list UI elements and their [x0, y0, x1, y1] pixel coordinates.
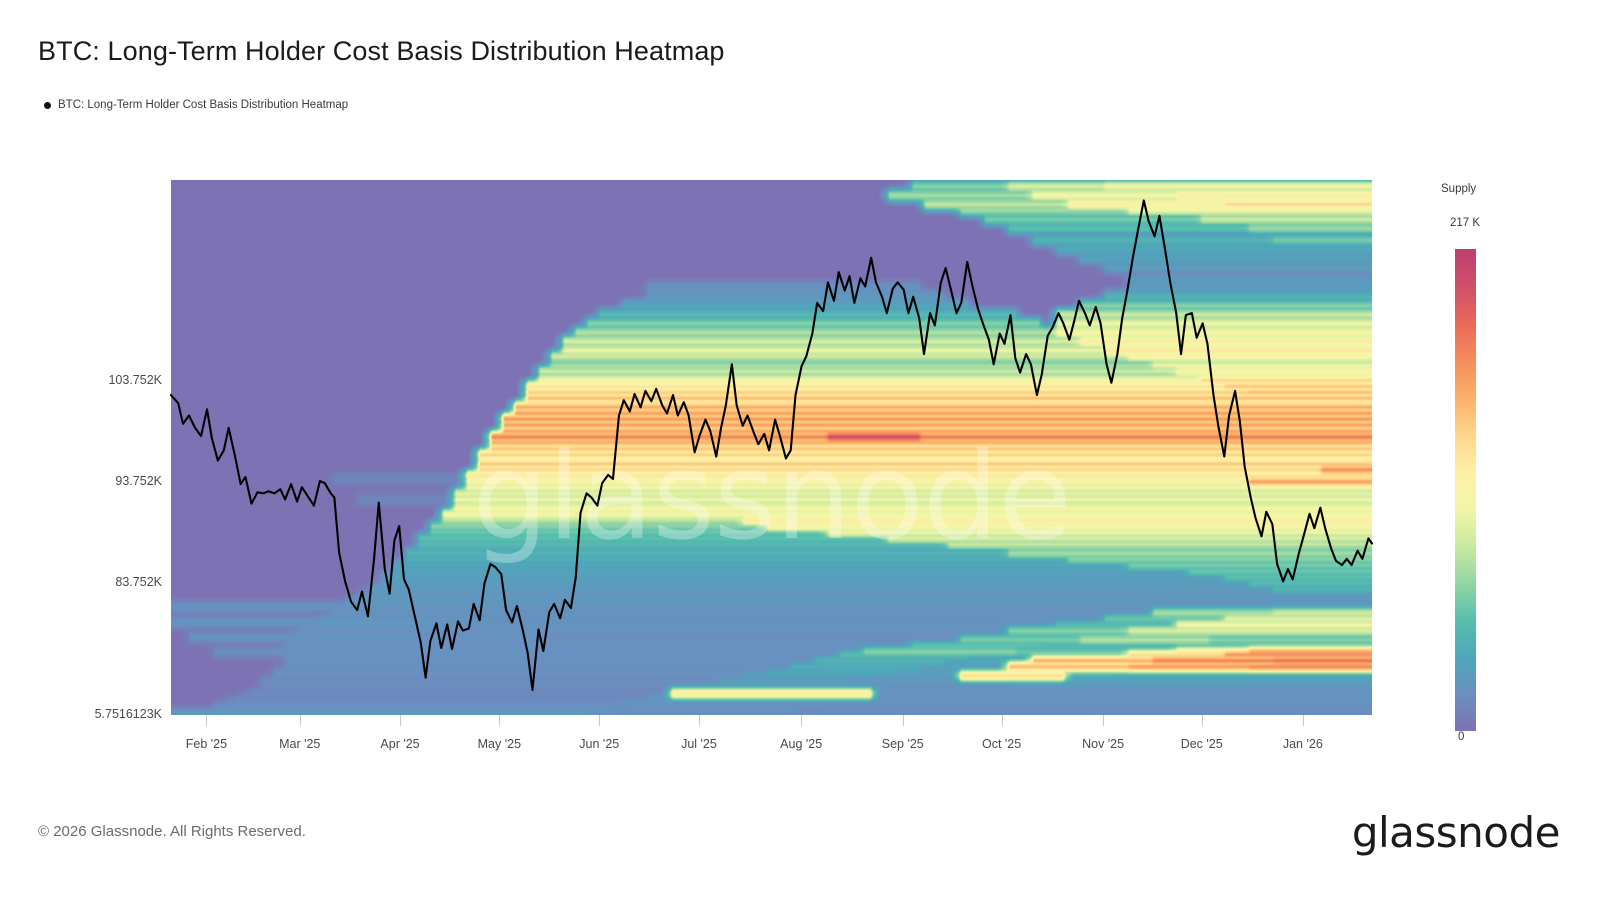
x-axis-tick-label: May '25 — [478, 737, 521, 751]
y-axis: 103.752K93.752K83.752K5.7516123K — [82, 180, 162, 715]
x-axis-tick-label: Sep '25 — [882, 737, 924, 751]
y-axis-tick-label: 5.7516123K — [95, 707, 162, 721]
x-axis-tick-mark — [300, 715, 301, 726]
price-line — [171, 200, 1372, 689]
x-axis-tick-mark — [801, 715, 802, 726]
colorbar-title: Supply — [1441, 183, 1476, 195]
x-axis-tick-mark — [903, 715, 904, 726]
x-axis-tick-label: Mar '25 — [279, 737, 320, 751]
x-axis-tick-label: Nov '25 — [1082, 737, 1124, 751]
x-axis-tick-mark — [1303, 715, 1304, 726]
x-axis-tick-mark — [206, 715, 207, 726]
colorbar-min-label: 0 — [1458, 731, 1464, 743]
y-axis-tick-label: 83.752K — [115, 575, 162, 589]
x-axis-tick-label: Jan '26 — [1283, 737, 1323, 751]
x-axis-tick-mark — [1002, 715, 1003, 726]
colorbar-max-label: 217 K — [1450, 217, 1480, 229]
chart-root: BTC: Long-Term Holder Cost Basis Distrib… — [0, 0, 1600, 900]
y-axis-tick-label: 93.752K — [115, 474, 162, 488]
colorbar-gradient[interactable] — [1455, 249, 1476, 731]
x-axis: Feb '25Mar '25Apr '25May '25Jun '25Jul '… — [171, 715, 1372, 765]
x-axis-tick-mark — [499, 715, 500, 726]
y-axis-tick-label: 103.752K — [108, 373, 162, 387]
x-axis-tick-mark — [699, 715, 700, 726]
chart-legend[interactable]: BTC: Long-Term Holder Cost Basis Distrib… — [44, 99, 348, 111]
legend-item-label: BTC: Long-Term Holder Cost Basis Distrib… — [58, 99, 348, 111]
x-axis-tick-mark — [1103, 715, 1104, 726]
brand-logo: glassnode — [1352, 808, 1560, 857]
x-axis-tick-label: Oct '25 — [982, 737, 1021, 751]
footer-copyright: © 2026 Glassnode. All Rights Reserved. — [38, 823, 306, 840]
x-axis-tick-label: Dec '25 — [1181, 737, 1223, 751]
x-axis-tick-mark — [400, 715, 401, 726]
x-axis-tick-label: Jul '25 — [681, 737, 717, 751]
price-line-overlay — [171, 180, 1372, 715]
x-axis-tick-mark — [599, 715, 600, 726]
plot-area[interactable]: glassnode — [171, 180, 1372, 715]
x-axis-tick-label: Apr '25 — [380, 737, 419, 751]
x-axis-tick-mark — [1202, 715, 1203, 726]
x-axis-tick-label: Feb '25 — [186, 737, 227, 751]
page-title: BTC: Long-Term Holder Cost Basis Distrib… — [38, 36, 725, 67]
series-dot-icon — [44, 102, 51, 109]
x-axis-tick-label: Aug '25 — [780, 737, 822, 751]
x-axis-tick-label: Jun '25 — [579, 737, 619, 751]
